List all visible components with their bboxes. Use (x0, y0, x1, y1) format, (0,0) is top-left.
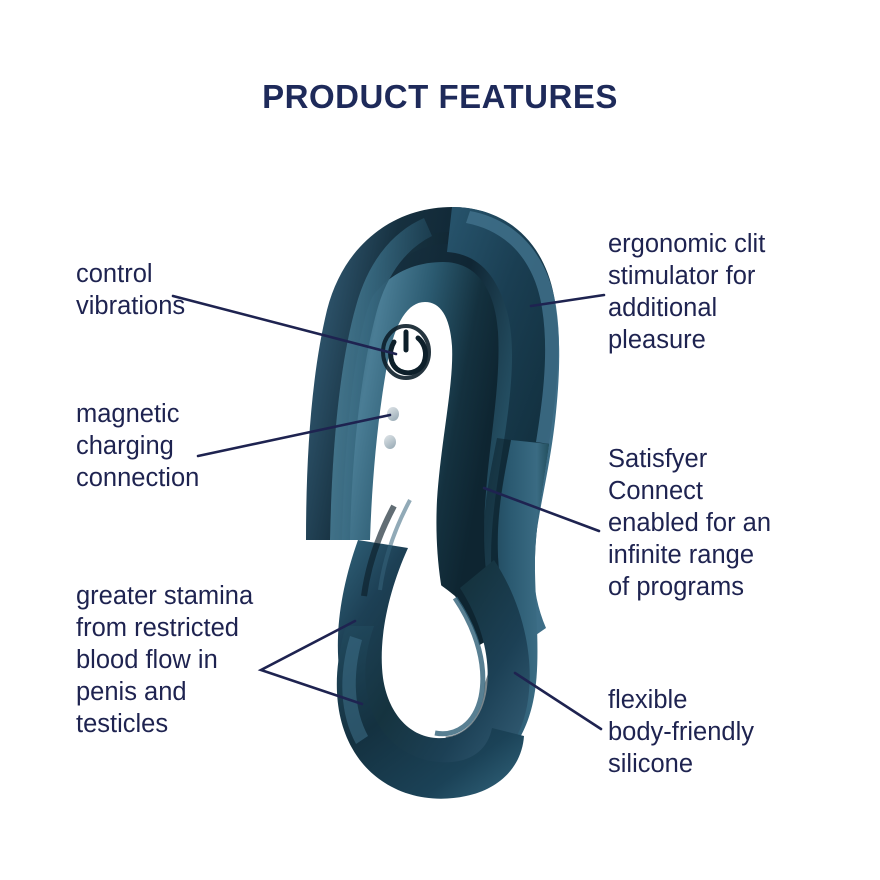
power-button[interactable] (383, 326, 429, 378)
power-icon (391, 332, 426, 373)
charging-contact-lower-dot (384, 435, 396, 449)
product-features-infographic: PRODUCT FEATURES (0, 0, 880, 880)
callout-control-vibrations: control vibrations (76, 258, 306, 322)
callout-greater-stamina: greater stamina from restricted blood fl… (76, 580, 336, 740)
product-body (306, 207, 559, 799)
charging-contact-upper-dot (387, 407, 399, 421)
callout-flexible-silicone: flexible body-friendly silicone (608, 684, 858, 780)
callout-ergonomic-clit-stimulator: ergonomic clit stimulator for additional… (608, 228, 858, 356)
callout-magnetic-charging: magnetic charging connection (76, 398, 306, 494)
callout-satisfyer-connect: Satisfyer Connect enabled for an infinit… (608, 443, 858, 603)
